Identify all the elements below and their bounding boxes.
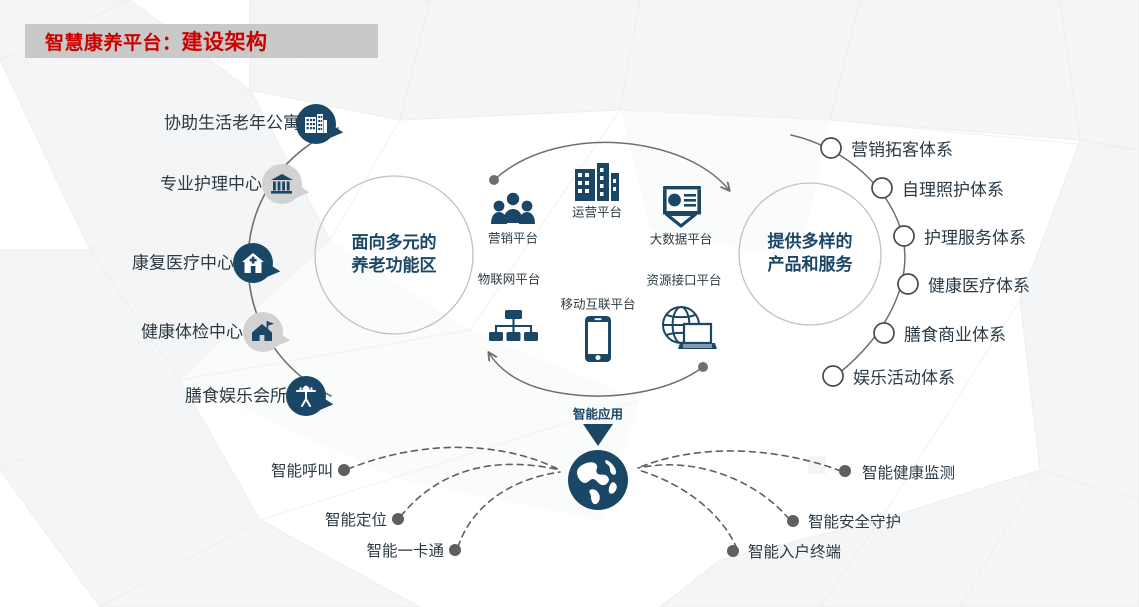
right-label-5: 膳食商业体系 [904, 321, 1006, 346]
left-core-label: 面向多元的 养老功能区 [352, 232, 437, 278]
left-core-line2: 养老功能区 [352, 255, 437, 278]
right-label-2: 自理照护体系 [902, 176, 1004, 201]
smart-curve-card [458, 472, 560, 547]
left-core-line1: 面向多元的 [352, 232, 437, 255]
right-label-6: 娱乐活动体系 [853, 364, 955, 389]
right-core-line1: 提供多样的 [768, 231, 853, 254]
right-core-line2: 产品和服务 [768, 254, 853, 277]
dining-recreation-icon[interactable] [286, 376, 326, 416]
right-label-4: 健康医疗体系 [928, 272, 1030, 297]
smart-label-call: 智能呼叫 [271, 459, 333, 481]
smart-curve-call [348, 447, 560, 470]
platform-arc-bottom [489, 353, 703, 396]
smart-label-health: 智能健康监测 [862, 461, 955, 483]
right-label-3: 护理服务体系 [924, 224, 1026, 249]
house-flag-icon[interactable] [243, 312, 283, 352]
smart-label-locate: 智能定位 [325, 508, 387, 530]
left-label-1: 协助生活老年公寓 [164, 109, 300, 134]
apartment-glyph [304, 112, 328, 136]
page-title-emphasis: 建设架构 [182, 26, 268, 56]
smart-curve-health [638, 451, 841, 471]
platform-arc-bottom-dot [698, 362, 708, 372]
smart-app-hub-label: 智能应用 [573, 404, 623, 423]
platform-label-resource: 资源接口平台 [646, 270, 721, 289]
smart-label-safety: 智能安全守护 [808, 510, 901, 532]
columns-glyph [270, 172, 294, 196]
smart-curve-locate [401, 464, 560, 516]
smart-curve-safety [638, 465, 789, 519]
platform-label-marketing: 营销平台 [488, 228, 538, 247]
smart-curve-terminal [638, 470, 737, 549]
right-label-1: 营销拓客体系 [851, 136, 953, 161]
right-core-label: 提供多样的 产品和服务 [768, 231, 853, 277]
apartment-buildings-icon[interactable] [296, 104, 336, 144]
recreation-glyph [294, 384, 318, 408]
left-label-2: 专业护理中心 [160, 170, 262, 195]
house-flag-glyph [250, 319, 276, 345]
smart-label-card: 智能一卡通 [366, 539, 444, 561]
clinic-columns-icon[interactable] [262, 164, 302, 204]
left-label-5: 膳食娱乐会所 [185, 382, 287, 407]
platform-arc-top-dot [489, 175, 499, 185]
left-label-4: 健康体检中心 [141, 318, 243, 343]
left-label-3: 康复医疗中心 [132, 249, 234, 274]
platform-label-operations: 运营平台 [572, 202, 622, 221]
medical-house-glyph [241, 251, 265, 275]
page-title-banner: 智慧康养平台：建设架构 [25, 24, 378, 58]
page-title-main: 智慧康养平台： [45, 28, 182, 55]
platform-label-mobile: 移动互联平台 [560, 294, 635, 313]
platform-arc-top [494, 142, 729, 190]
smart-label-terminal: 智能入户终端 [748, 540, 841, 562]
diagram-canvas: 智慧康养平台：建设架构 协助生活老年公寓 专业护理中心 康复医疗中心 健康体检中… [0, 0, 1139, 607]
platform-label-iot: 物联网平台 [478, 269, 541, 288]
medical-house-icon[interactable] [233, 243, 273, 283]
platform-label-bigdata: 大数据平台 [650, 229, 713, 248]
